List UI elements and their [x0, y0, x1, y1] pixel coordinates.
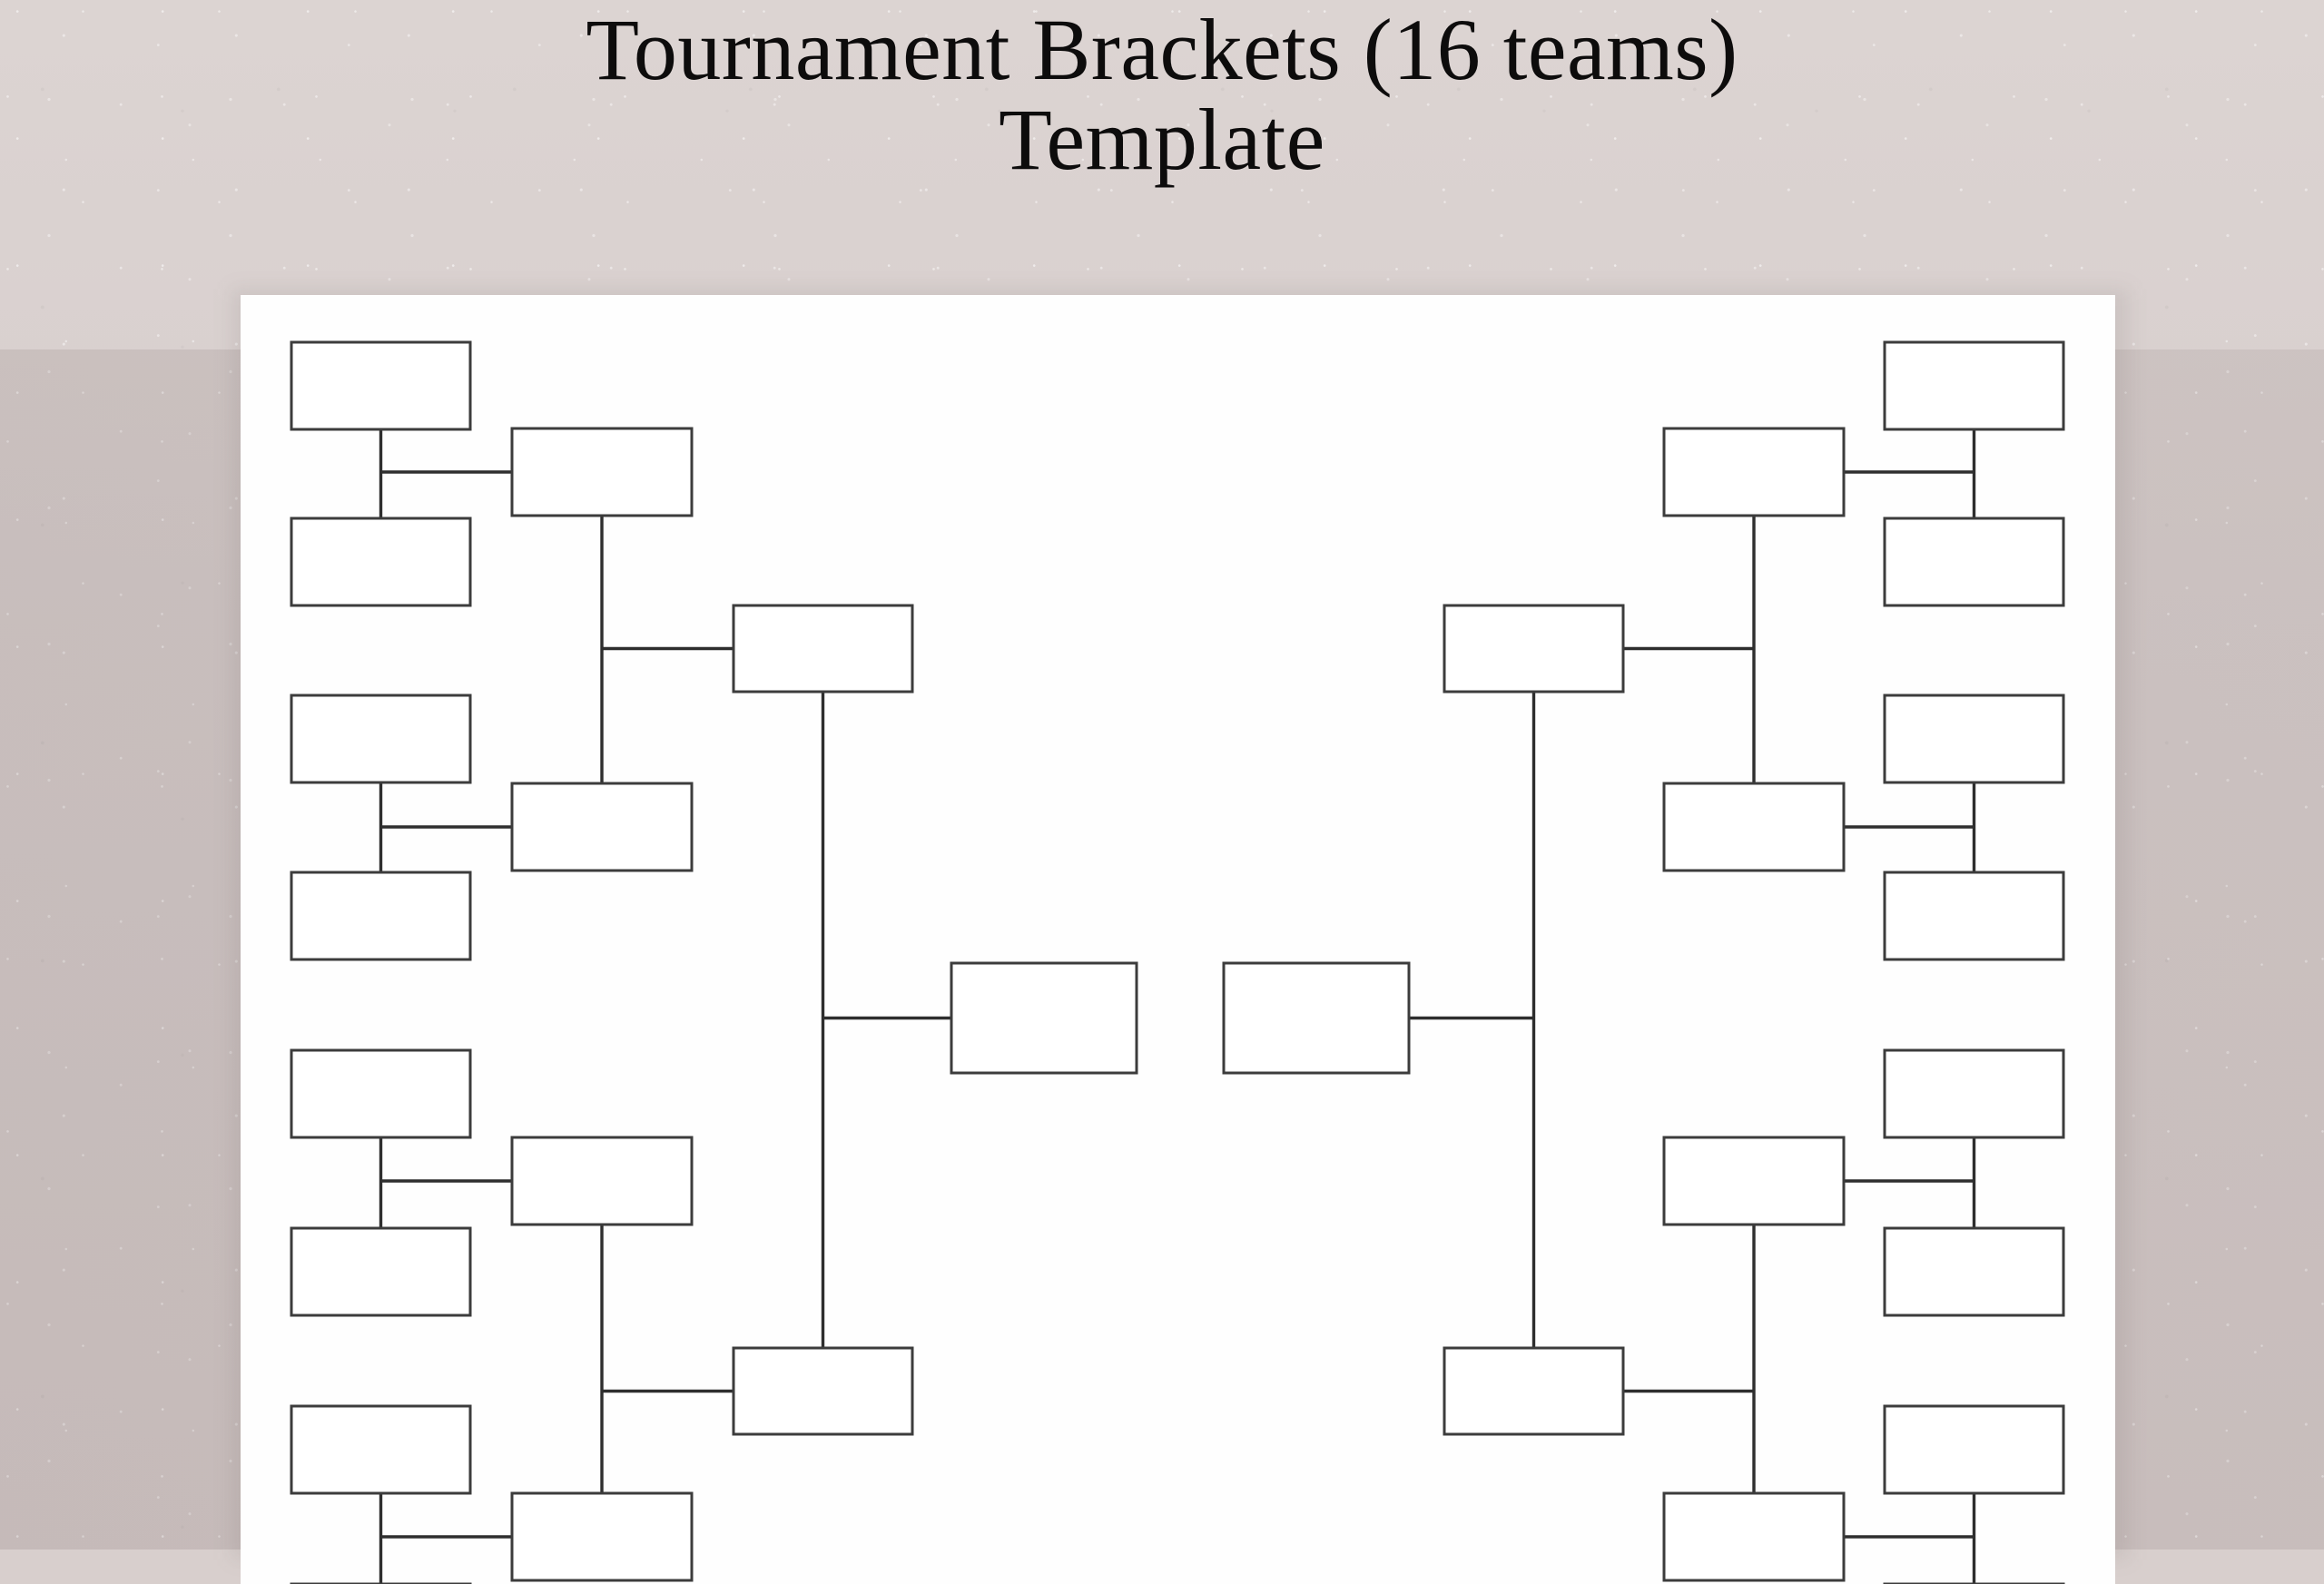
bracket-slot-r2-left-4[interactable]: [512, 1493, 692, 1580]
bracket-slot-r2-right-2[interactable]: [1664, 783, 1844, 871]
bracket-slot-r2-right-3[interactable]: [1664, 1137, 1844, 1225]
bracket-slot-r2-left-3[interactable]: [512, 1137, 692, 1225]
bracket-slot-final-left[interactable]: [951, 963, 1137, 1073]
bracket-slot-r1-left-5[interactable]: [291, 1050, 470, 1137]
bracket-slot-r1-right-7[interactable]: [1885, 1406, 2063, 1493]
bracket-slot-r1-left-7[interactable]: [291, 1406, 470, 1493]
bracket-slot-r1-right-2[interactable]: [1885, 518, 2063, 605]
bracket-slot-r3-right-1[interactable]: [1444, 605, 1623, 692]
bracket-slot-r3-right-2[interactable]: [1444, 1348, 1623, 1434]
template-sheet: [241, 295, 2115, 1584]
page-title-line-2: Template: [0, 95, 2324, 185]
bracket-slot-r1-right-3[interactable]: [1885, 695, 2063, 782]
bracket-slot-r1-left-4[interactable]: [291, 872, 470, 959]
bracket-slot-r2-left-2[interactable]: [512, 783, 692, 871]
page-title: Tournament Brackets (16 teams) Template: [0, 0, 2324, 185]
tournament-bracket-diagram: [241, 295, 2115, 1584]
bracket-slot-r1-right-1[interactable]: [1885, 342, 2063, 429]
bracket-slot-r3-left-1[interactable]: [734, 605, 912, 692]
bracket-slot-r1-left-6[interactable]: [291, 1228, 470, 1315]
bracket-slot-r2-right-1[interactable]: [1664, 428, 1844, 516]
bracket-slot-r1-right-5[interactable]: [1885, 1050, 2063, 1137]
bracket-slot-r1-left-2[interactable]: [291, 518, 470, 605]
bracket-slot-final-right[interactable]: [1224, 963, 1409, 1073]
page-title-line-1: Tournament Brackets (16 teams): [0, 5, 2324, 95]
bracket-connectors: [381, 429, 1974, 1584]
bracket-slot-r1-left-3[interactable]: [291, 695, 470, 782]
bracket-slot-r1-left-1[interactable]: [291, 342, 470, 429]
bracket-slot-r1-right-6[interactable]: [1885, 1228, 2063, 1315]
bracket-slot-r2-left-1[interactable]: [512, 428, 692, 516]
bracket-slot-r3-left-2[interactable]: [734, 1348, 912, 1434]
bracket-slot-r1-right-4[interactable]: [1885, 872, 2063, 959]
bracket-slot-r2-right-4[interactable]: [1664, 1493, 1844, 1580]
bracket-slot-boxes: [291, 342, 2063, 1584]
